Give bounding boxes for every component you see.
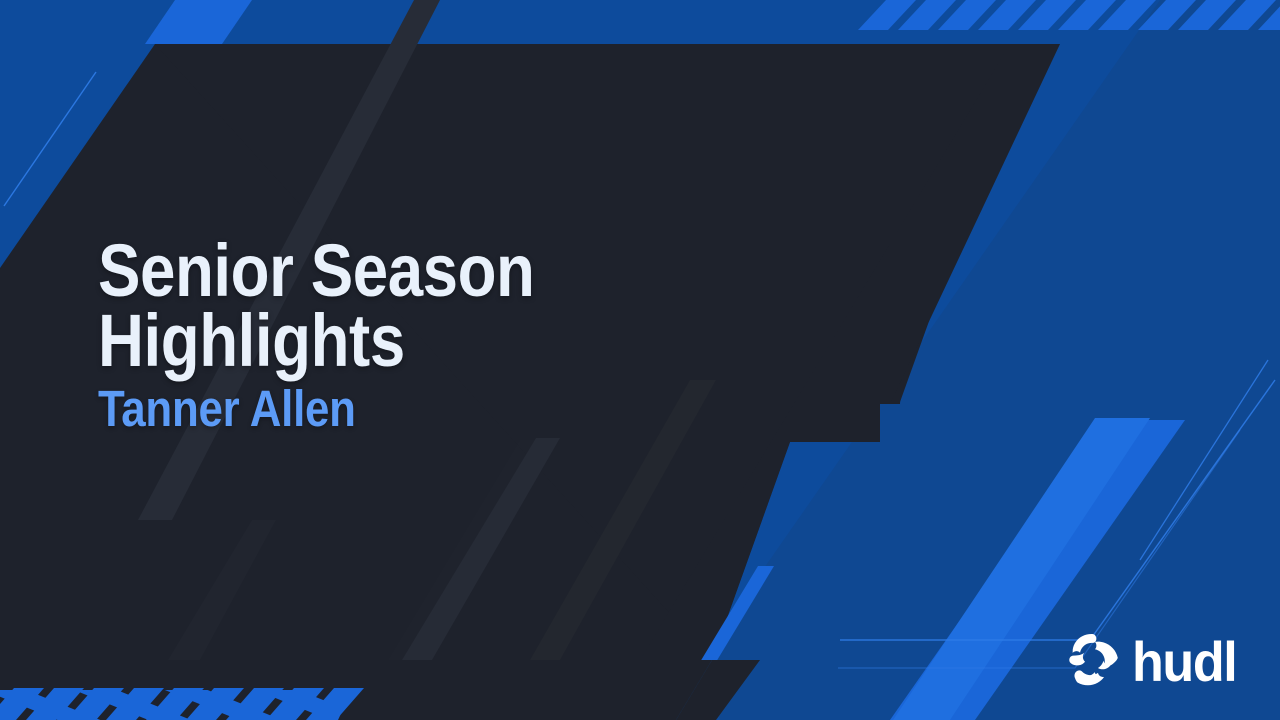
hudl-brand-lockup: hudl	[1066, 631, 1244, 692]
athlete-name: Tanner Allen	[98, 383, 648, 434]
title-block: Senior Season Highlights Tanner Allen	[98, 236, 738, 434]
hudl-wordmark: hudl	[1132, 634, 1236, 690]
highlight-title-card: Senior Season Highlights Tanner Allen hu…	[0, 0, 1280, 720]
hudl-logo-mark	[1066, 631, 1122, 692]
page-title: Senior Season Highlights	[98, 236, 648, 377]
